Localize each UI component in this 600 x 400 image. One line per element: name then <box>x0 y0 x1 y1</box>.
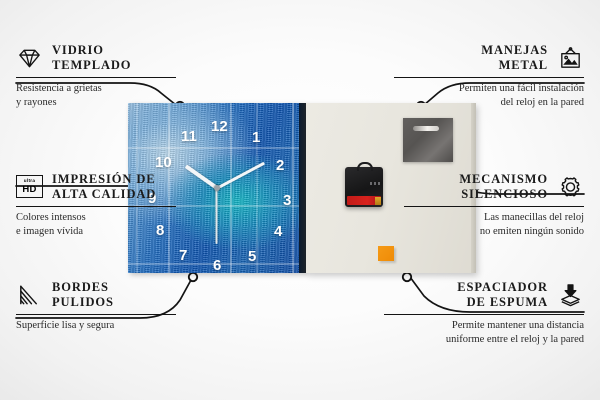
feature-title: BORDES PULIDOS <box>52 280 114 311</box>
feature-header: BORDES PULIDOS <box>16 280 176 311</box>
feature-description: Permiten una fácil instalación del reloj… <box>394 82 584 109</box>
feature-header: MANEJAS METAL <box>394 43 584 74</box>
feature-espaciador-espuma: ESPACIADOR DE ESPUMA Permite mantener un… <box>384 280 584 346</box>
clock-numeral-7: 7 <box>179 248 187 263</box>
diamond-icon <box>16 46 43 70</box>
feature-title: VIDRIO TEMPLADO <box>52 43 131 74</box>
hanger-slot <box>413 126 439 131</box>
feature-description: Resistencia a grietas y rayones <box>16 82 176 109</box>
feature-divider <box>16 206 176 208</box>
clock-movement-box <box>345 167 383 207</box>
feature-bordes-pulidos: BORDES PULIDOS Superficie lisa y segura <box>16 280 176 333</box>
feature-description: Permite mantener una distancia uniforme … <box>384 319 584 346</box>
ultra-hd-icon-main-label: HD <box>22 185 36 195</box>
metal-hanger-bracket <box>403 118 453 162</box>
feature-divider <box>16 314 176 316</box>
clock-numeral-5: 5 <box>248 249 256 264</box>
feature-title: MECANISMO SILENCIOSO <box>459 172 548 203</box>
clock-numeral-11: 11 <box>181 129 197 144</box>
feature-impresion-alta-calidad: ultra HD IMPRESIÓN DE ALTA CALIDAD Color… <box>16 172 176 238</box>
clock-center-cap <box>214 185 220 191</box>
clock-numeral-4: 4 <box>274 224 282 239</box>
clock-numeral-1: 1 <box>252 130 260 145</box>
feature-divider <box>394 77 584 79</box>
press-down-layers-icon <box>557 283 584 307</box>
picture-hanger-icon <box>557 46 584 70</box>
foam-spacer-pad <box>378 246 394 261</box>
movement-hanger-loop <box>357 162 373 171</box>
feature-title: IMPRESIÓN DE ALTA CALIDAD <box>52 172 156 203</box>
clock-numeral-3: 3 <box>283 193 291 208</box>
feature-divider <box>384 314 584 316</box>
feature-header: ESPACIADOR DE ESPUMA <box>384 280 584 311</box>
feature-vidrio-templado: VIDRIO TEMPLADO Resistencia a grietas y … <box>16 43 176 109</box>
feature-description: Colores intensos e imagen vívida <box>16 211 176 238</box>
feature-divider <box>16 77 176 79</box>
feature-divider <box>404 206 584 208</box>
feature-manejas-metal: MANEJAS METAL Permiten una fácil instala… <box>394 43 584 109</box>
polished-edge-icon <box>16 283 43 307</box>
movement-chip <box>375 197 381 205</box>
anchor-dot-bordes <box>189 273 197 281</box>
feature-mecanismo-silencioso: MECANISMO SILENCIOSO Las manecillas del … <box>404 172 584 238</box>
feature-header: MECANISMO SILENCIOSO <box>404 172 584 203</box>
clock-numeral-2: 2 <box>276 158 284 173</box>
clock-panel-edge <box>299 103 306 273</box>
movement-detail <box>370 182 380 185</box>
clock-numeral-6: 6 <box>213 258 221 273</box>
clock-numeral-12: 12 <box>211 119 228 134</box>
infographic-canvas: 12 1 2 3 4 5 6 7 8 9 10 11 <box>0 0 600 400</box>
feature-description: Superficie lisa y segura <box>16 319 176 333</box>
ultra-hd-icon: ultra HD <box>16 175 43 199</box>
feature-title: ESPACIADOR DE ESPUMA <box>457 280 548 311</box>
gear-icon <box>557 175 584 199</box>
feature-header: ultra HD IMPRESIÓN DE ALTA CALIDAD <box>16 172 176 203</box>
clock-numeral-10: 10 <box>155 155 172 170</box>
feature-title: MANEJAS METAL <box>481 43 548 74</box>
feature-header: VIDRIO TEMPLADO <box>16 43 176 74</box>
feature-description: Las manecillas del reloj no emiten ningú… <box>404 211 584 238</box>
